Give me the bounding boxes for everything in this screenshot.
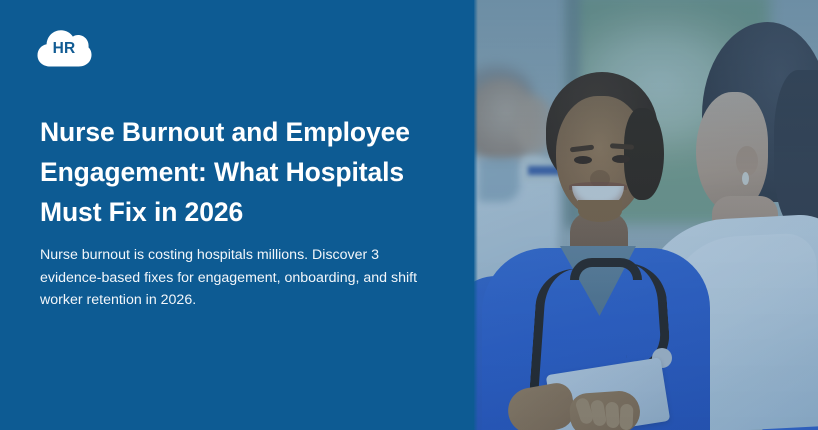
photo-cool-wash	[474, 0, 818, 430]
hero-banner: HR Nurse Burnout and Employee Engagement…	[0, 0, 818, 430]
subtitle-line-2: evidence-based fixes for engagement, onb…	[40, 267, 438, 290]
text-panel: HR Nurse Burnout and Employee Engagement…	[0, 0, 474, 430]
cloud-hr-logo[interactable]: HR	[36, 26, 92, 68]
logo-text: HR	[36, 26, 92, 68]
page-subtitle: Nurse burnout is costing hospitals milli…	[40, 244, 438, 312]
subtitle-line-3: worker retention in 2026.	[40, 289, 438, 312]
photo-left-edge-fade	[474, 0, 478, 430]
hero-photo	[474, 0, 818, 430]
headline-line-1: Nurse Burnout and Employee	[40, 112, 440, 152]
headline-line-3: Must Fix in 2026	[40, 192, 440, 232]
headline-line-2: Engagement: What Hospitals	[40, 152, 440, 192]
photo-scene	[474, 0, 818, 430]
subtitle-line-1: Nurse burnout is costing hospitals milli…	[40, 244, 438, 267]
page-title: Nurse Burnout and Employee Engagement: W…	[40, 112, 440, 232]
